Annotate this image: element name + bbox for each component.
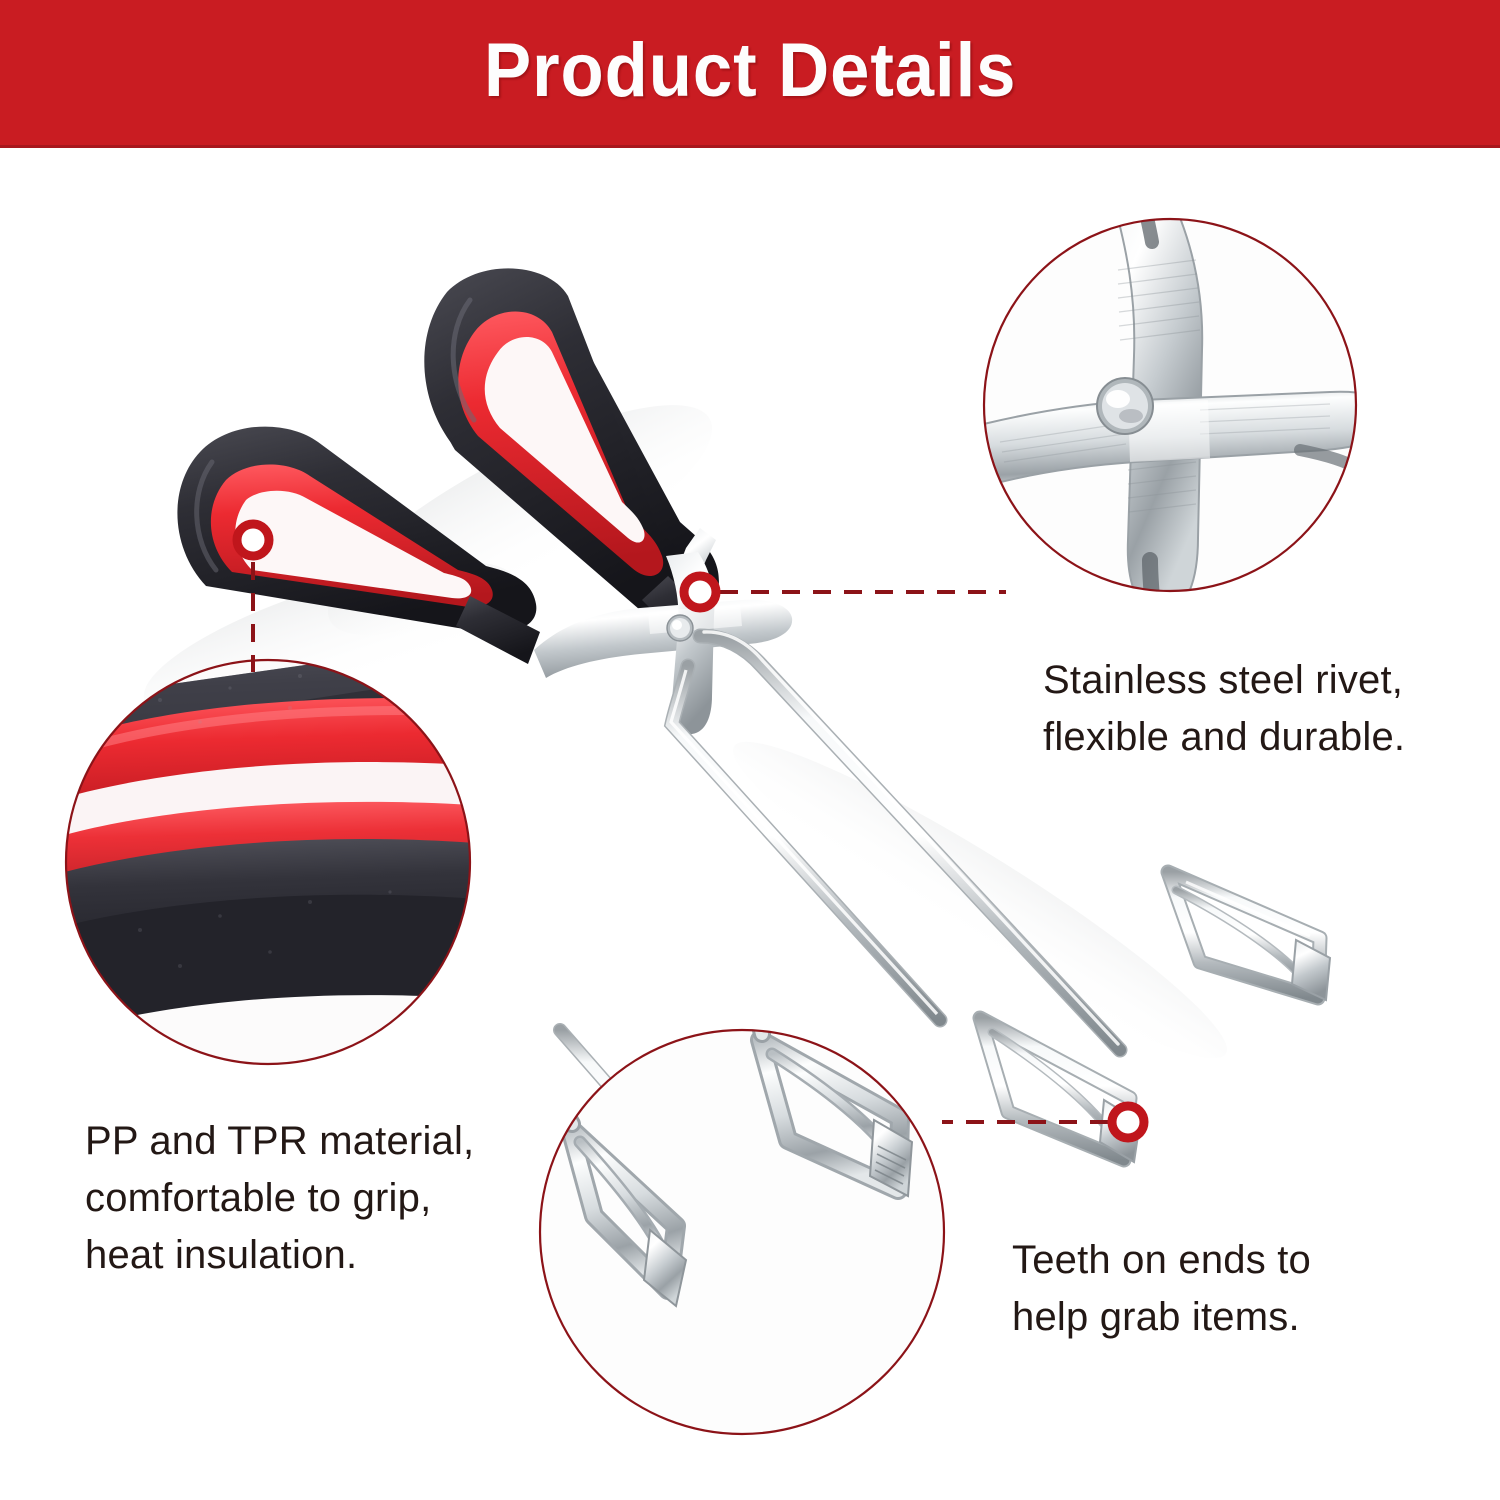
teeth-caption: Teeth on ends to help grab items. xyxy=(1012,1232,1412,1346)
product-details-infographic: Product Details xyxy=(0,0,1500,1500)
teeth-magnifier-circle xyxy=(540,978,944,1434)
tong-tip-center xyxy=(980,1018,1140,1162)
rivet-magnifier-circle xyxy=(958,186,1394,614)
wire-arm-lower xyxy=(671,666,940,1020)
material-caption: PP and TPR material, comfortable to grip… xyxy=(85,1113,555,1283)
rivet-marker xyxy=(684,576,716,608)
material-connector xyxy=(237,524,269,672)
rivet-caption: Stainless steel rivet, flexible and dura… xyxy=(1043,652,1473,766)
page-title: Product Details xyxy=(484,33,1016,109)
material-marker xyxy=(237,524,269,556)
header-banner: Product Details xyxy=(0,0,1500,148)
upper-handle xyxy=(424,268,719,648)
material-magnifier-circle xyxy=(50,640,494,1064)
teeth-connector xyxy=(942,1106,1144,1138)
rivet-connector xyxy=(684,576,1006,608)
steel-pivot-assembly xyxy=(534,528,792,734)
lower-handle xyxy=(177,427,540,664)
wire-arm-left xyxy=(560,1030,700,1190)
tong-tip-right xyxy=(1168,872,1330,1000)
teeth-marker xyxy=(1112,1106,1144,1138)
